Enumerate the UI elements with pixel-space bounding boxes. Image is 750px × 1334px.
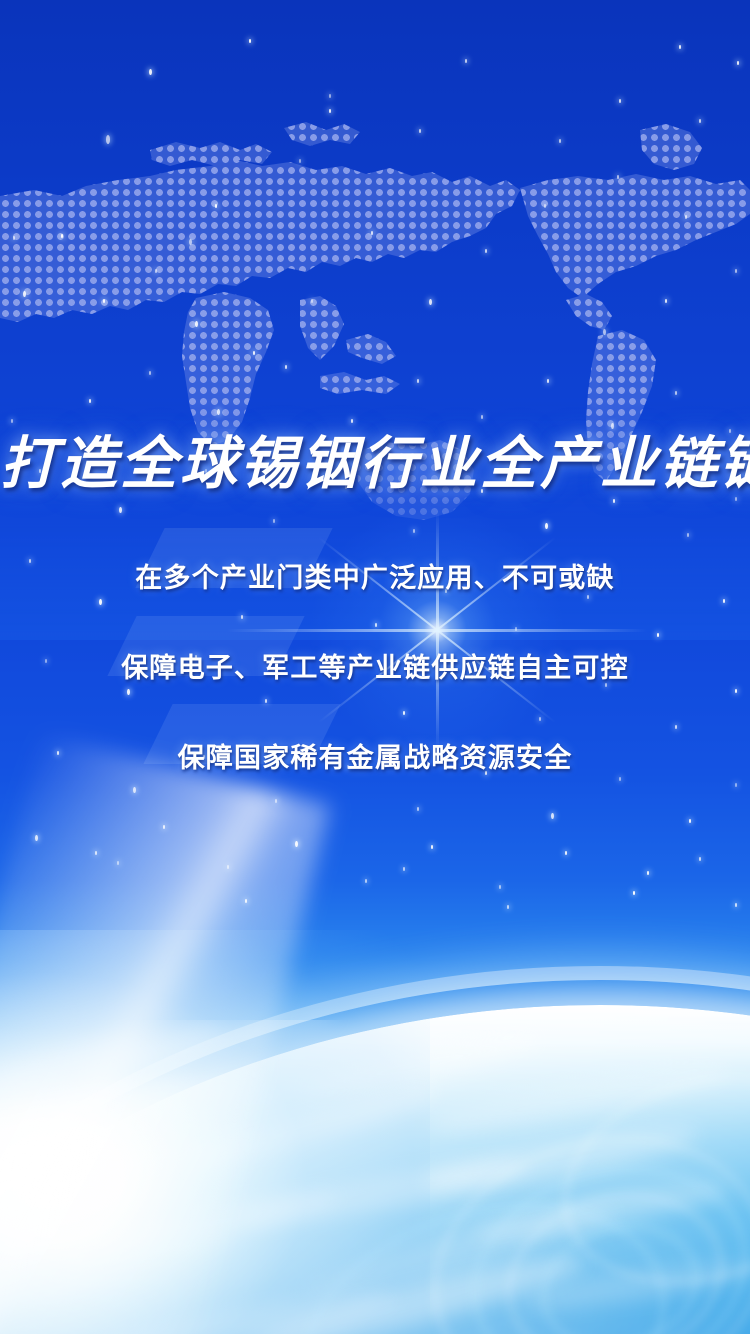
poster-subtitle-1: 在多个产业门类中广泛应用、不可或缺 bbox=[0, 556, 750, 595]
poster-subtitle-list: 在多个产业门类中广泛应用、不可或缺 保障电子、军工等产业链供应链自主可控 保障国… bbox=[0, 556, 750, 775]
poster-subtitle-3: 保障国家稀有金属战略资源安全 bbox=[0, 736, 750, 775]
poster-headline: 打造全球锡铟行业全产业链链主 bbox=[0, 418, 750, 500]
poster-subtitle-2: 保障电子、军工等产业链供应链自主可控 bbox=[0, 646, 750, 685]
poster-content: 打造全球锡铟行业全产业链链主 在多个产业门类中广泛应用、不可或缺 保障电子、军工… bbox=[0, 0, 750, 1334]
poster-canvas: 打造全球锡铟行业全产业链链主 在多个产业门类中广泛应用、不可或缺 保障电子、军工… bbox=[0, 0, 750, 1334]
